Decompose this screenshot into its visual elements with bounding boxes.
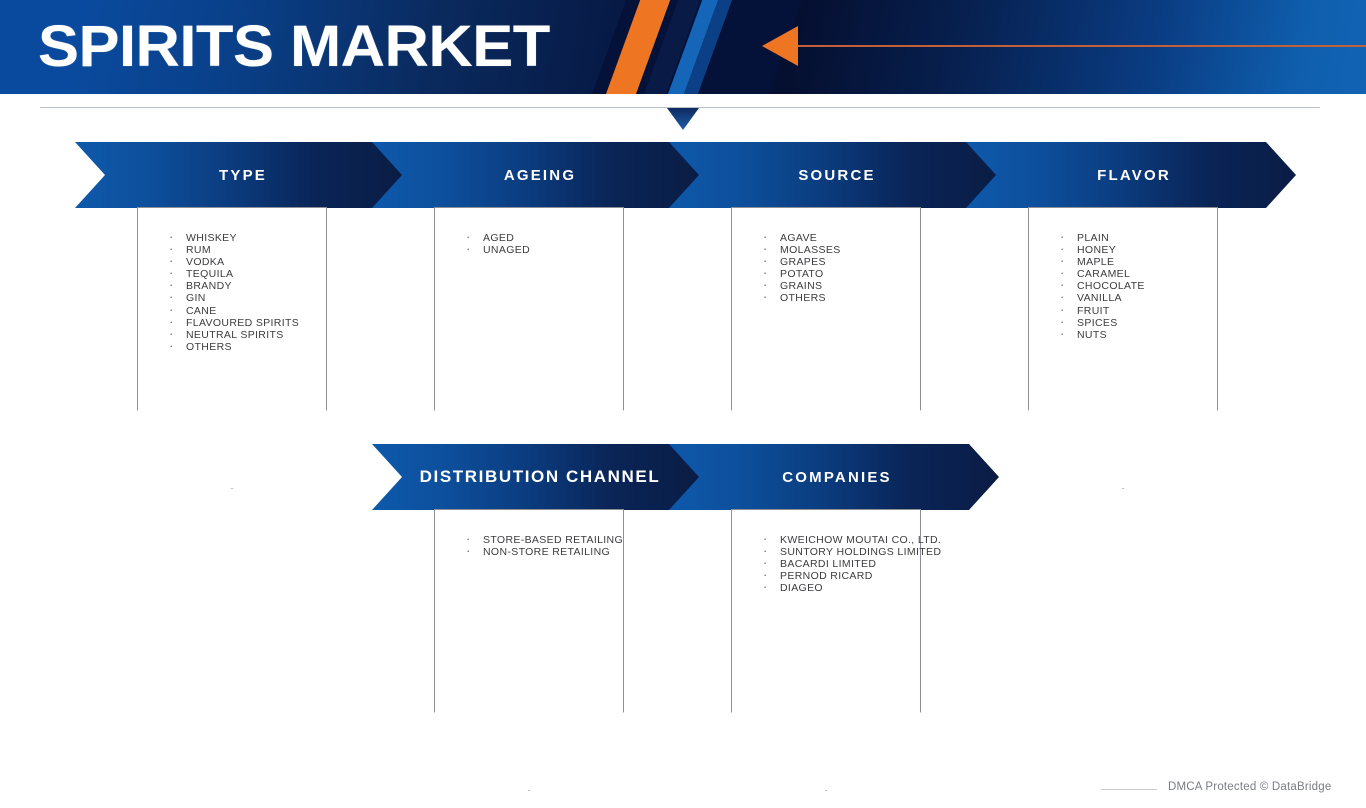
list-item: GRAPES — [761, 256, 841, 268]
list-flavor: PLAIN HONEY MAPLE CARAMEL CHOCOLATE VANI… — [1058, 232, 1145, 341]
divider-line — [40, 107, 1320, 108]
list-item: FRUIT — [1058, 305, 1145, 317]
infographic-page: SPIRITS MARKET TYPE WHISKEY RUM VODKA TE… — [0, 0, 1366, 808]
banner-label-source: SOURCE — [792, 167, 875, 184]
list-item: SPICES — [1058, 317, 1145, 329]
list-ageing: AGED UNAGED — [464, 232, 530, 256]
list-item: VODKA — [167, 256, 299, 268]
footer-divider — [1101, 789, 1157, 790]
banner-label-ageing: AGEING — [498, 167, 576, 184]
banner-label-flavor: FLAVOR — [1091, 167, 1171, 184]
banner-label-distribution-channel: DISTRIBUTION CHANNEL — [414, 467, 661, 487]
list-item: MAPLE — [1058, 256, 1145, 268]
list-item: FLAVOURED SPIRITS — [167, 317, 299, 329]
list-item: STORE-BASED RETAILING — [464, 534, 623, 546]
header-arrow-tail — [795, 45, 1366, 47]
list-item: OTHERS — [761, 292, 841, 304]
banner-label-companies: COMPANIES — [776, 469, 892, 486]
banner-type[interactable]: TYPE — [75, 142, 405, 208]
list-item: CHOCOLATE — [1058, 280, 1145, 292]
list-item: POTATO — [761, 268, 841, 280]
banner-flavor[interactable]: FLAVOR — [966, 142, 1296, 208]
down-triangle-icon — [667, 108, 699, 130]
list-item: BRANDY — [167, 280, 299, 292]
list-item: NEUTRAL SPIRITS — [167, 329, 299, 341]
list-item: MOLASSES — [761, 244, 841, 256]
list-type: WHISKEY RUM VODKA TEQUILA BRANDY GIN CAN… — [167, 232, 299, 353]
list-item: SUNTORY HOLDINGS LIMITED — [761, 546, 941, 558]
list-item: UNAGED — [464, 244, 530, 256]
list-item: GIN — [167, 292, 299, 304]
list-item: DIAGEO — [761, 582, 941, 594]
list-item: HONEY — [1058, 244, 1145, 256]
list-item: NON-STORE RETAILING — [464, 546, 623, 558]
list-item: NUTS — [1058, 329, 1145, 341]
banner-distribution-channel[interactable]: DISTRIBUTION CHANNEL — [372, 444, 702, 510]
list-item: BACARDI LIMITED — [761, 558, 941, 570]
banner-companies[interactable]: COMPANIES — [669, 444, 999, 510]
list-item: PLAIN — [1058, 232, 1145, 244]
list-item: CARAMEL — [1058, 268, 1145, 280]
list-item: AGED — [464, 232, 530, 244]
list-item: OTHERS — [167, 341, 299, 353]
list-companies: KWEICHOW MOUTAI CO., LTD. SUNTORY HOLDIN… — [761, 534, 941, 594]
list-item: WHISKEY — [167, 232, 299, 244]
list-item: CANE — [167, 305, 299, 317]
list-item: RUM — [167, 244, 299, 256]
header-banner: SPIRITS MARKET — [0, 0, 1366, 94]
banner-source[interactable]: SOURCE — [669, 142, 999, 208]
page-title: SPIRITS MARKET — [38, 14, 550, 80]
banner-ageing[interactable]: AGEING — [372, 142, 702, 208]
banner-label-type: TYPE — [213, 167, 267, 184]
list-item: GRAINS — [761, 280, 841, 292]
list-item: AGAVE — [761, 232, 841, 244]
list-item: PERNOD RICARD — [761, 570, 941, 582]
footer-copyright: DMCA Protected © DataBridge — [1168, 781, 1331, 793]
list-item: VANILLA — [1058, 292, 1145, 304]
header-arrow-left-icon — [762, 26, 798, 66]
list-distribution-channel: STORE-BASED RETAILING NON-STORE RETAILIN… — [464, 534, 623, 558]
list-item: KWEICHOW MOUTAI CO., LTD. — [761, 534, 941, 546]
list-item: TEQUILA — [167, 268, 299, 280]
list-source: AGAVE MOLASSES GRAPES POTATO GRAINS OTHE… — [761, 232, 841, 305]
